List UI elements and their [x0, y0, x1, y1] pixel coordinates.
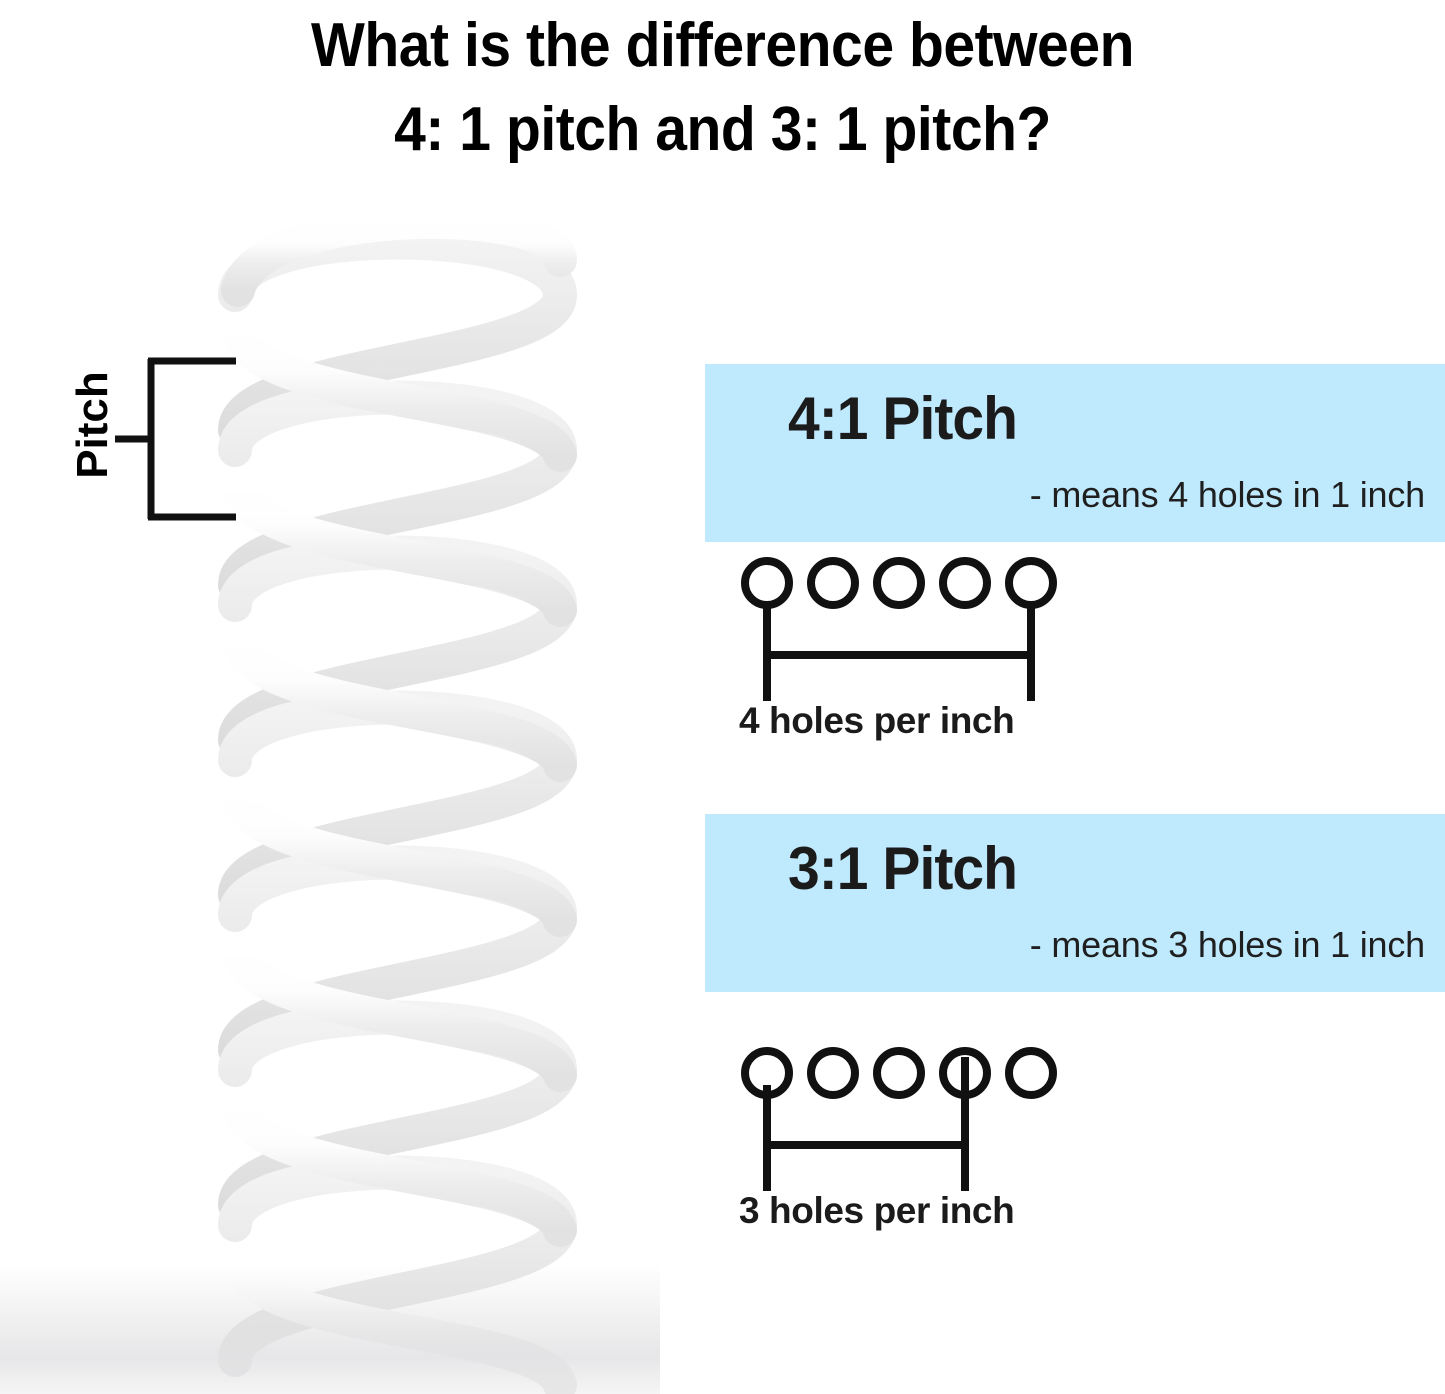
infographic-page: What is the difference between 4: 1 pitc…	[0, 0, 1445, 1394]
pitch-4-1-subtext: - means 4 holes in 1 inch	[1030, 474, 1425, 516]
coil-turns	[235, 222, 560, 1385]
hole-circle	[877, 1051, 921, 1095]
pitch-3-1-heading: 3:1 Pitch	[788, 834, 1017, 903]
holes-row-4-1-icon	[705, 555, 1125, 715]
holes-diagram-3-1: 3 holes per inch	[705, 1045, 1125, 1255]
hole-circle	[811, 561, 855, 605]
hole-circle	[811, 1051, 855, 1095]
span-bracket	[765, 603, 1033, 701]
hole-circle	[1009, 1051, 1053, 1095]
hole-circle	[877, 561, 921, 605]
pitch-3-1-subtext: - means 3 holes in 1 inch	[1030, 924, 1425, 966]
holes-diagram-4-1: 4 holes per inch	[705, 555, 1125, 765]
pitch-4-1-heading: 4:1 Pitch	[788, 384, 1017, 453]
pitch-label: Pitch	[68, 360, 118, 490]
holes-row-3-1-icon	[705, 1045, 1125, 1205]
hole-circle	[943, 561, 987, 605]
pitch-measurement: Pitch	[60, 355, 260, 545]
span-bracket	[765, 1057, 967, 1191]
page-title: What is the difference between 4: 1 pitc…	[58, 4, 1387, 172]
hole-circle	[1009, 561, 1053, 605]
pitch-3-1-info-box: 3:1 Pitch - means 3 holes in 1 inch	[705, 814, 1445, 992]
holes-caption-3-1: 3 holes per inch	[739, 1190, 1014, 1232]
page-title-line-2: 4: 1 pitch and 3: 1 pitch?	[58, 88, 1387, 172]
hole-circle	[745, 561, 789, 605]
holes-caption-4-1: 4 holes per inch	[739, 700, 1014, 742]
page-title-line-1: What is the difference between	[58, 4, 1387, 88]
pitch-4-1-info-box: 4:1 Pitch - means 4 holes in 1 inch	[705, 364, 1445, 542]
